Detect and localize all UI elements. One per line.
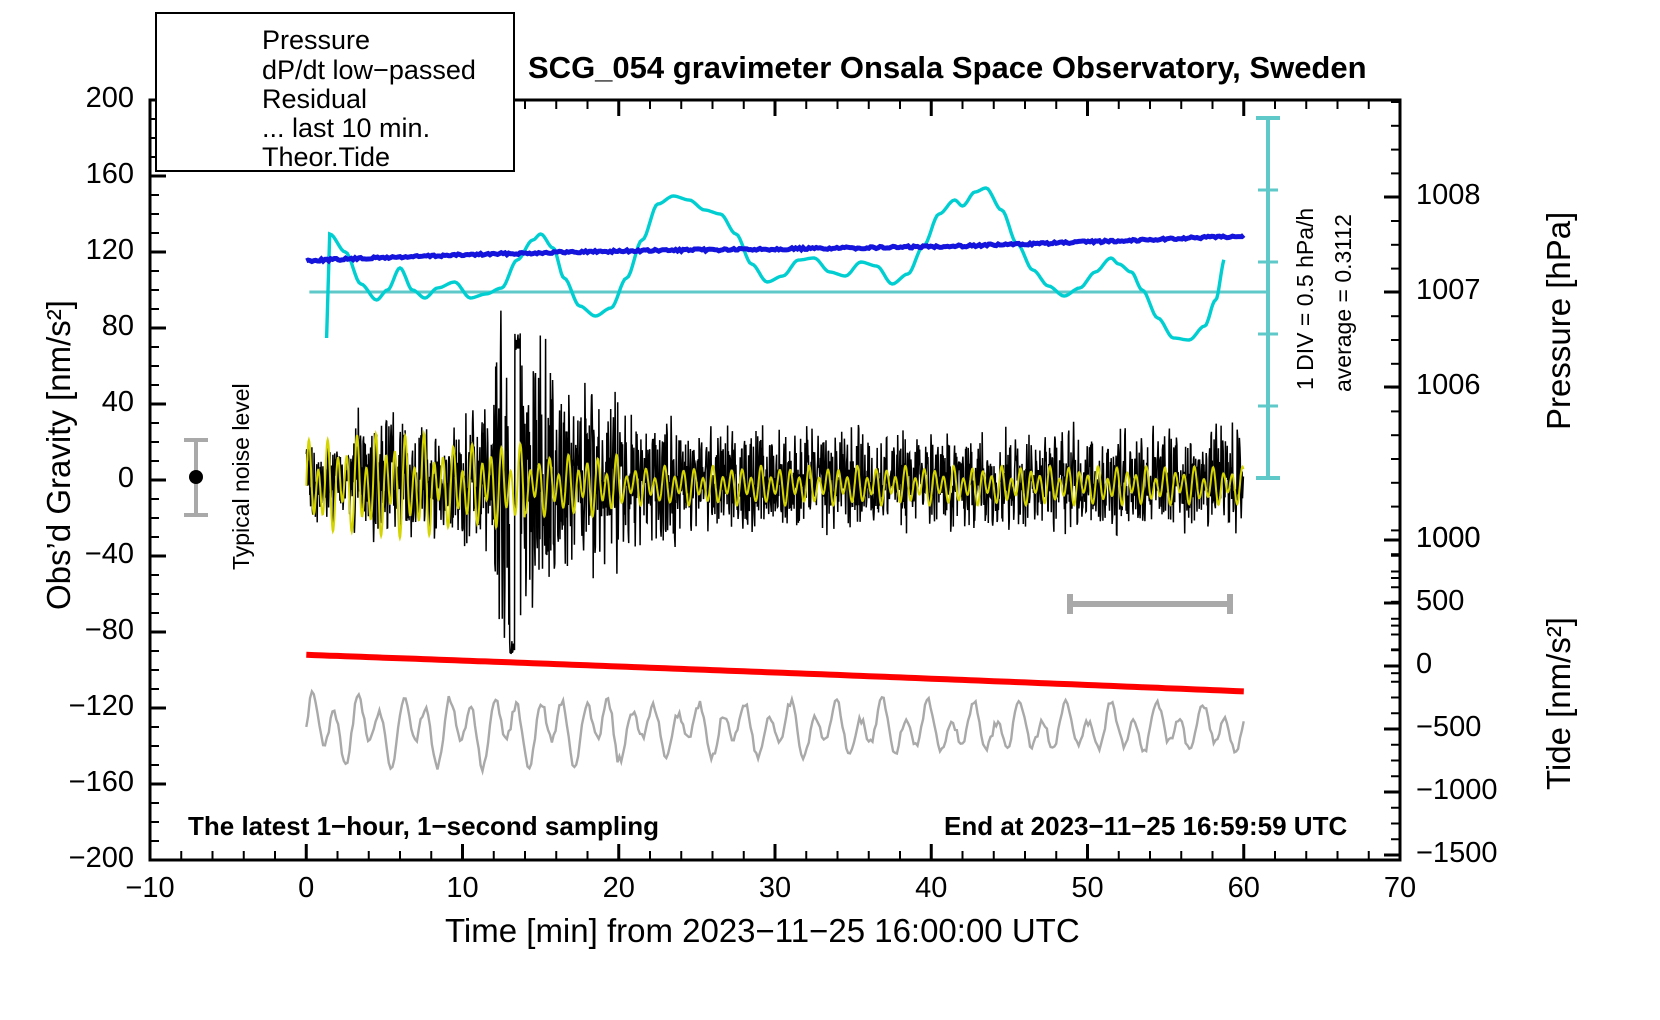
- tick-label: 40: [0, 386, 134, 419]
- tick-label: 200: [0, 82, 134, 115]
- tick-label: −80: [0, 614, 134, 647]
- tick-label: 0: [1416, 648, 1432, 681]
- average-annotation: average = 0.3112: [1330, 214, 1357, 392]
- tick-label: 160: [0, 158, 134, 191]
- scale-div-annotation: 1 DIV = 0.5 hPa/h: [1292, 208, 1319, 390]
- tick-label: 20: [579, 872, 659, 905]
- tick-label: −1500: [1416, 837, 1497, 870]
- tick-label: 50: [1048, 872, 1128, 905]
- gravimeter-plot-figure: Pressure dP/dt low−passed Residual ... l…: [0, 0, 1660, 1020]
- tick-label: 80: [0, 310, 134, 343]
- horizontal-scale-bar: [1070, 594, 1230, 614]
- noise-level-annotation: Typical noise level: [228, 383, 255, 570]
- tick-label: −40: [0, 538, 134, 571]
- typical-noise-level-errorbar: [184, 440, 208, 515]
- dpdt-scale-bar: [1256, 118, 1280, 478]
- series-dpdt-lowpassed: [327, 188, 1224, 340]
- bottom-left-annotation: The latest 1−hour, 1−second sampling: [188, 811, 659, 842]
- legend-item-dpdt: dP/dt low−passed: [262, 55, 476, 86]
- y-axis-right-top-title: Pressure [hPa]: [1540, 212, 1578, 430]
- tick-label: 1000: [1416, 522, 1481, 555]
- series-theoretical-tide: [306, 655, 1244, 692]
- tick-label: 1008: [1416, 179, 1481, 212]
- tick-label: 60: [1204, 872, 1284, 905]
- tick-label: 40: [891, 872, 971, 905]
- legend-item-residual: Residual: [262, 84, 367, 115]
- chart-title: SCG_054 gravimeter Onsala Space Observat…: [528, 50, 1367, 86]
- tick-label: 70: [1360, 872, 1440, 905]
- tick-label: 10: [423, 872, 503, 905]
- tick-label: −120: [0, 690, 134, 723]
- tick-label: −500: [1416, 711, 1481, 744]
- tick-label: −1000: [1416, 774, 1497, 807]
- x-axis-title: Time [min] from 2023−11−25 16:00:00 UTC: [445, 912, 1080, 950]
- series-pressure: [306, 235, 1243, 262]
- tick-label: 30: [735, 872, 815, 905]
- legend-item-theor-tide: Theor.Tide: [262, 142, 390, 173]
- tick-label: −200: [0, 842, 134, 875]
- series-last-10-min: [306, 691, 1243, 771]
- tick-label: 500: [1416, 585, 1464, 618]
- tick-label: 120: [0, 234, 134, 267]
- tick-label: 0: [0, 462, 134, 495]
- bottom-right-annotation: End at 2023−11−25 16:59:59 UTC: [944, 811, 1347, 842]
- tick-label: 1006: [1416, 369, 1481, 402]
- tick-label: 0: [266, 872, 346, 905]
- tick-label: 1007: [1416, 274, 1481, 307]
- tick-label: −10: [110, 872, 190, 905]
- y-axis-right-bottom-title: Tide [nm/s²]: [1540, 617, 1578, 790]
- tick-label: −160: [0, 766, 134, 799]
- legend-item-last-10-min: ... last 10 min.: [262, 113, 430, 144]
- y-axis-right-ticks: [1384, 102, 1400, 855]
- legend-item-pressure: Pressure: [262, 25, 370, 56]
